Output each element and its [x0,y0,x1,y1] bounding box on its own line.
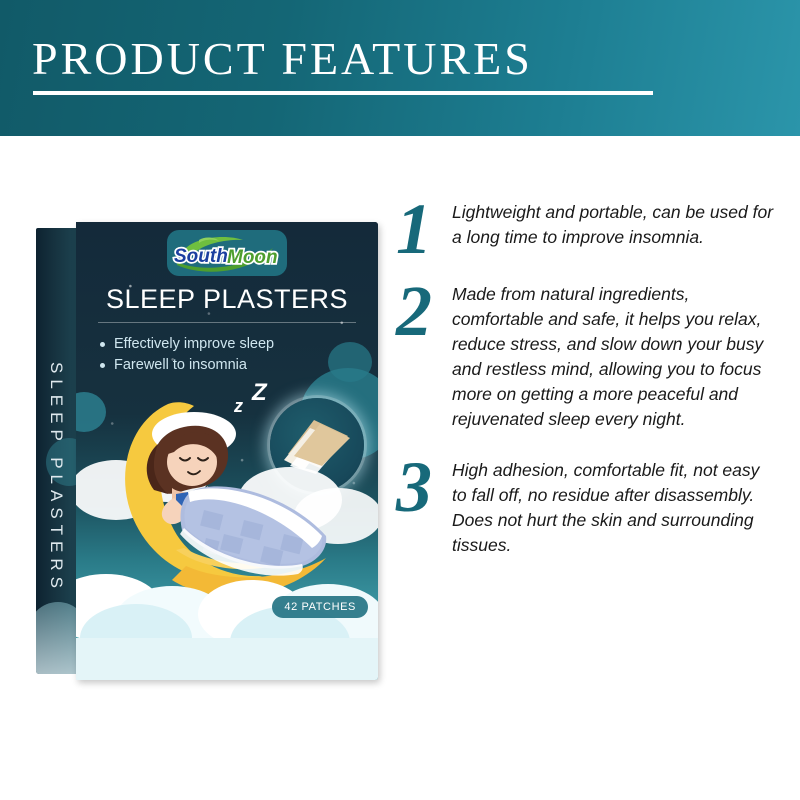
title-underline [33,91,653,95]
page-header: PRODUCT FEATURES [0,0,800,136]
list-item: Effectively improve sleep [100,334,274,355]
product-name: SLEEP PLASTERS [76,284,378,315]
svg-text:z: z [233,396,243,416]
feature-item-2: 2 Made from natural ingredients, comfort… [396,278,776,432]
page-title: PRODUCT FEATURES [32,36,533,82]
product-box-image: SLEEP PLASTERS South South Moon Moon SL [36,222,378,680]
sleep-z-marks: z Z [233,379,268,416]
feature-item-3: 3 High adhesion, comfortable fit, not ea… [396,454,776,558]
product-name-divider [98,322,356,323]
box-front-face: South South Moon Moon SLEEP PLASTERS Eff… [76,222,378,680]
spine-cloud-decoration [36,602,76,674]
feature-number-3: 3 [396,456,452,518]
quantity-badge: 42 PATCHES [272,596,368,618]
cloud-group-front [76,574,378,680]
svg-text:Moon: Moon [227,247,278,268]
box-spine: SLEEP PLASTERS [36,228,76,674]
feature-item-1: 1 Lightweight and portable, can be used … [396,196,776,260]
south-moon-logo-svg: South South Moon Moon [169,232,285,274]
spine-text: SLEEP PLASTERS [46,362,66,594]
brand-logo: South South Moon Moon [167,230,287,276]
sleeping-girl-illustration: z Z [76,370,378,680]
feature-text-1: Lightweight and portable, can be used fo… [452,196,776,250]
feature-text-3: High adhesion, comfortable fit, not easy… [452,454,776,558]
feature-number-2: 2 [396,280,452,342]
feature-text-2: Made from natural ingredients, comfortab… [452,278,776,432]
features-list: 1 Lightweight and portable, can be used … [396,196,776,576]
svg-text:South: South [174,246,228,267]
feature-number-1: 1 [396,198,452,260]
svg-text:Z: Z [251,379,268,406]
